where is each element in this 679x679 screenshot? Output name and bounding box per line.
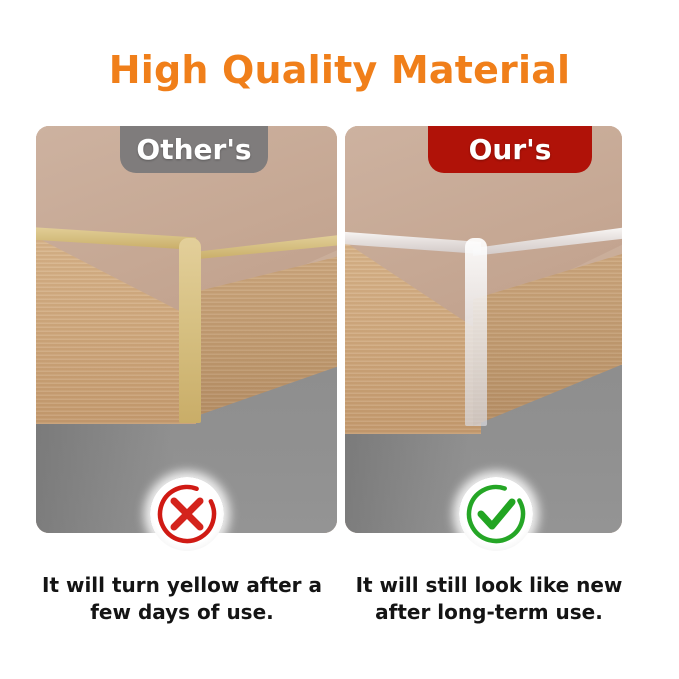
cross-icon — [150, 477, 224, 551]
table-illustration-other — [36, 126, 337, 533]
badge-other-text: Other's — [136, 133, 251, 166]
comparison-panel-other: Other's — [36, 126, 337, 533]
edge-guard-yellow-corner-left — [179, 238, 201, 423]
label-badge-other: Other's — [120, 126, 268, 173]
edge-guard-clear-corner-right — [465, 238, 487, 426]
caption-other: It will turn yellow after a few days of … — [32, 572, 332, 626]
badge-ours-text: Our's — [469, 133, 552, 166]
caption-ours: It will still look like new after long-t… — [344, 572, 634, 626]
page-title: High Quality Material — [0, 48, 679, 92]
label-badge-ours: Our's — [428, 126, 592, 173]
comparison-panel-ours: Our's — [345, 126, 622, 533]
table-illustration-ours — [345, 126, 622, 533]
infographic-root: High Quality Material Other's — [0, 0, 679, 679]
check-icon — [459, 477, 533, 551]
